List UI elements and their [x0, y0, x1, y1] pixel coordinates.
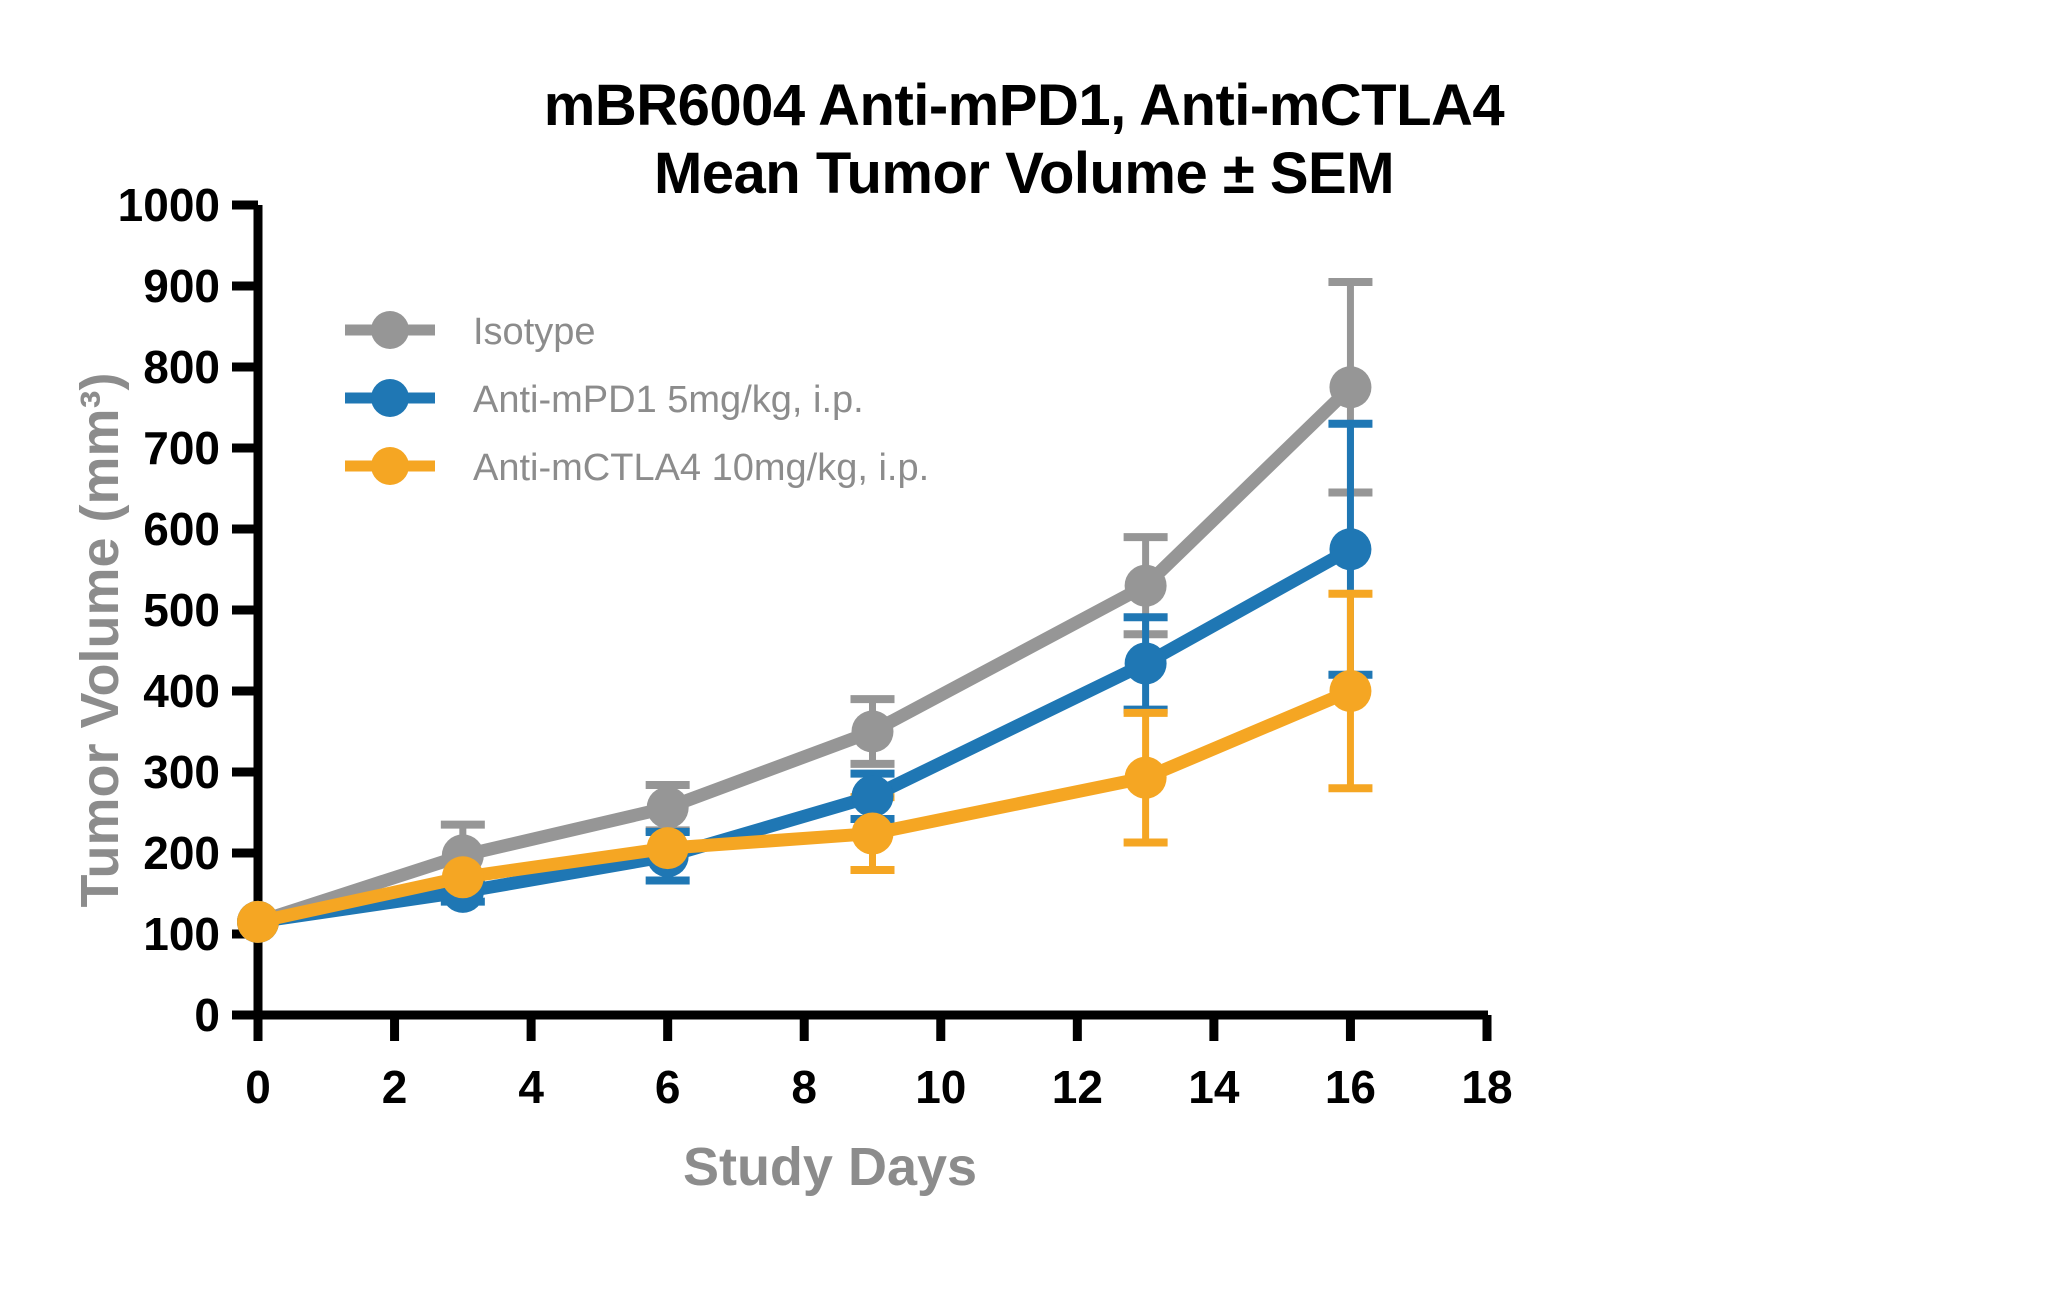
data-point[interactable] [647, 827, 689, 869]
x-axis-tick-label: 0 [245, 1061, 271, 1113]
legend-item-label: Isotype [473, 311, 596, 353]
data-point[interactable] [1329, 366, 1371, 408]
legend-swatch-marker [371, 447, 409, 485]
legend-swatch-marker [371, 311, 409, 349]
chart-canvas: 01002003004005006007008009001000 0246810… [0, 0, 2048, 1305]
y-axis-tick-label: 300 [143, 746, 220, 798]
x-axis-title: Study Days [683, 1137, 977, 1197]
data-point[interactable] [1125, 757, 1167, 799]
x-axis-tick-label: 4 [518, 1061, 544, 1113]
data-point[interactable] [1125, 642, 1167, 684]
y-axis-tick-label: 100 [143, 908, 220, 960]
x-axis-tick-label: 2 [382, 1061, 408, 1113]
y-axis-tick-label: 200 [143, 827, 220, 879]
y-axis-tick-label: 0 [194, 989, 220, 1041]
legend-item-label: Anti-mCTLA4 10mg/kg, i.p. [473, 447, 929, 489]
data-point[interactable] [442, 856, 484, 898]
x-axis-tick-label: 6 [655, 1061, 681, 1113]
y-axis-tick-label: 800 [143, 341, 220, 393]
data-point[interactable] [647, 787, 689, 829]
y-axis-tick-label: 500 [143, 584, 220, 636]
x-axis-tick-label: 12 [1052, 1061, 1103, 1113]
y-axis-tick-label: 900 [143, 260, 220, 312]
data-point[interactable] [852, 711, 894, 753]
legend-item-2[interactable]: Anti-mCTLA4 10mg/kg, i.p. [345, 447, 929, 489]
chart-page: mBR6004 Anti-mPD1, Anti-mCTLA4 Mean Tumo… [0, 0, 2048, 1305]
data-point[interactable] [852, 775, 894, 817]
data-point[interactable] [1329, 528, 1371, 570]
x-axis-tick-label: 14 [1188, 1061, 1240, 1113]
data-point[interactable] [1125, 565, 1167, 607]
legend-item-0[interactable]: Isotype [345, 311, 596, 353]
legend: IsotypeAnti-mPD1 5mg/kg, i.p.Anti-mCTLA4… [345, 311, 929, 489]
legend-item-1[interactable]: Anti-mPD1 5mg/kg, i.p. [345, 379, 864, 421]
series-1 [237, 528, 1371, 943]
error-bars-0 [441, 282, 1373, 886]
series-line [258, 691, 1350, 922]
legend-swatch-marker [371, 379, 409, 417]
y-axis-tick-label: 400 [143, 665, 220, 717]
y-axis-tick-labels: 01002003004005006007008009001000 [118, 179, 220, 1041]
data-point[interactable] [852, 813, 894, 855]
legend-item-label: Anti-mPD1 5mg/kg, i.p. [473, 379, 864, 421]
x-axis-tick-label: 16 [1325, 1061, 1376, 1113]
x-axis-tick-label: 10 [915, 1061, 966, 1113]
x-axis-tick-label: 18 [1461, 1061, 1512, 1113]
y-axis-tick-label: 700 [143, 422, 220, 474]
data-point[interactable] [237, 901, 279, 943]
y-axis-title: Tumor Volume (mm³) [70, 373, 130, 908]
x-axis-tick-labels: 024681012141618 [245, 1061, 1512, 1113]
x-axis-tick-label: 8 [791, 1061, 817, 1113]
y-axis-tick-label: 1000 [118, 179, 220, 231]
y-axis-tick-label: 600 [143, 503, 220, 555]
data-point[interactable] [1329, 670, 1371, 712]
